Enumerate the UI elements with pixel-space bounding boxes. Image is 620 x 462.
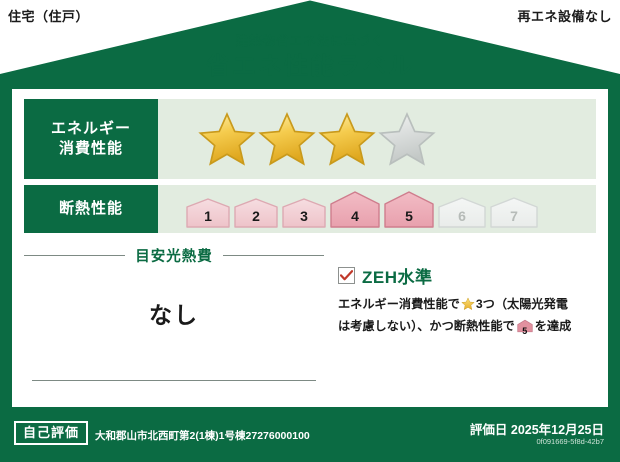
evaluation-date: 評価日 2025年12月25日 <box>470 419 604 438</box>
utility-cost-title: 目安光熱費 <box>125 245 223 266</box>
utility-cost-header: 目安光熱費 <box>24 245 324 266</box>
house-icon <box>330 191 380 228</box>
evaluation-date-label: 評価日 <box>470 423 508 437</box>
title-main: 省エネ性能ラベル <box>0 52 620 82</box>
evaluation-id: 0f091669-5f8d-42b7 <box>536 437 604 446</box>
zeh-desc-stars: 3つ（太陽光発電 <box>476 297 568 311</box>
utility-cost-value: なし <box>149 296 199 330</box>
house-icon <box>282 198 326 228</box>
zeh-section: ZEH水準 エネルギー消費性能で3つ（太陽光発電は考慮しない）、かつ断熱性能で5… <box>324 241 596 397</box>
insulation-level-3: 3 <box>282 198 326 228</box>
house-icon <box>384 191 434 228</box>
building-type-tag: 住宅（住戸） <box>0 0 99 33</box>
insulation-performance-label-box: 断熱性能 <box>24 185 158 233</box>
zeh-header: ZEH水準 <box>338 263 592 288</box>
insulation-level-6: 6 <box>438 197 486 228</box>
star-filled-icon <box>258 111 316 167</box>
zeh-title: ZEH水準 <box>362 263 433 288</box>
star-empty-icon <box>378 111 436 167</box>
utility-cost-section: 目安光熱費 なし <box>24 241 324 397</box>
title-subtitle: 建築物省エネ法に基づく <box>0 34 620 49</box>
energy-performance-row: エネルギー 消費性能 <box>24 99 596 179</box>
insulation-level-7: 7 <box>490 197 538 228</box>
star-filled-icon <box>318 111 376 167</box>
zeh-desc-part2: は考慮しない）、かつ断熱性能で <box>338 319 515 333</box>
insulation-level-1: 1 <box>186 198 230 228</box>
insulation-label: 断熱性能 <box>59 199 123 219</box>
zeh-desc-part1: エネルギー消費性能で <box>338 297 460 311</box>
check-icon <box>340 270 353 281</box>
insulation-level-4: 4 <box>330 191 380 228</box>
cost-rule-right <box>223 255 324 256</box>
zeh-description: エネルギー消費性能で3つ（太陽光発電は考慮しない）、かつ断熱性能で5を達成 <box>338 295 592 339</box>
label-body-panel: エネルギー 消費性能 断熱性能 1234567 目安光熱費 <box>12 89 608 407</box>
energy-performance-label-box: エネルギー 消費性能 <box>24 99 158 179</box>
energy-label-line2: 消費性能 <box>59 139 123 159</box>
star-rating <box>198 111 436 167</box>
house-icon <box>490 197 538 228</box>
house-icon <box>186 198 230 228</box>
label-title-block: 建築物省エネ法に基づく 省エネ性能ラベル <box>0 34 620 82</box>
house-rating-scale: 1234567 <box>186 191 538 228</box>
inline-house-icon: 5 <box>517 319 533 339</box>
insulation-level-5: 5 <box>384 191 434 228</box>
star-filled-icon <box>198 111 256 167</box>
cost-rule-left <box>24 255 125 256</box>
evaluation-date-value: 2025年12月25日 <box>511 423 604 437</box>
cost-bottom-divider <box>32 380 316 381</box>
insulation-performance-value: 1234567 <box>158 185 596 233</box>
property-address: 大和郡山市北西町第2(1棟)1号棟27276000100 <box>95 428 310 443</box>
insulation-level-2: 2 <box>234 198 278 228</box>
energy-label-line1: エネルギー <box>51 119 131 139</box>
zeh-checkbox[interactable] <box>338 267 355 284</box>
house-icon <box>438 197 486 228</box>
lower-section: 目安光熱費 なし ZEH水準 エネルギー消費性能で3つ（太陽光発電は考慮しな <box>24 241 596 397</box>
label-footer: 自己評価 大和郡山市北西町第2(1棟)1号棟27276000100 評価日 20… <box>0 407 620 462</box>
self-evaluation-badge: 自己評価 <box>14 421 88 445</box>
energy-performance-value <box>158 99 596 179</box>
renewable-energy-tag: 再エネ設備なし <box>507 0 620 33</box>
insulation-performance-row: 断熱性能 1234567 <box>24 185 596 233</box>
inline-star-icon <box>461 297 475 317</box>
zeh-desc-part3: を達成 <box>535 319 572 333</box>
energy-performance-label: 住宅（住戸） 再エネ設備なし 建築物省エネ法に基づく 省エネ性能ラベル エネルギ… <box>0 0 620 462</box>
inline-house-number: 5 <box>517 325 533 339</box>
house-icon <box>234 198 278 228</box>
